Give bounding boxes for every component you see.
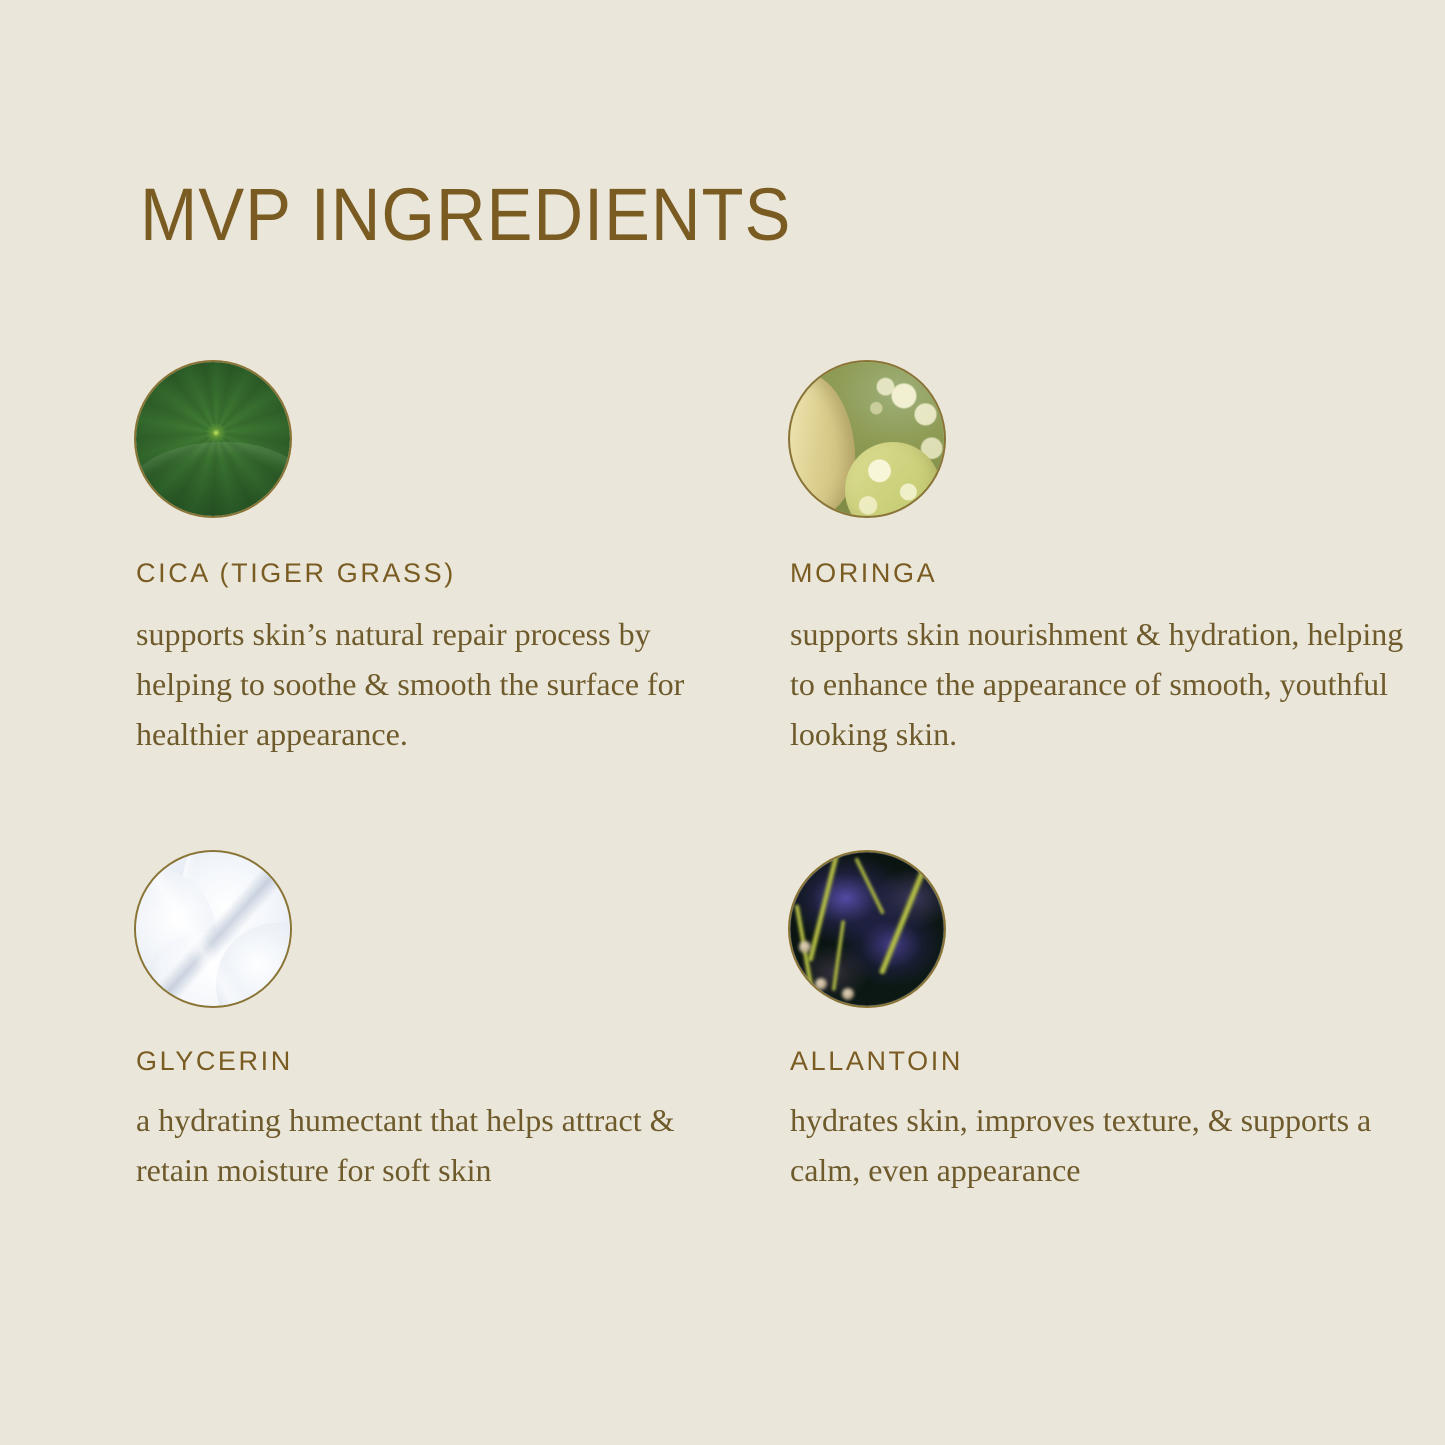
ingredient-description-glycerin: a hydrating humectant that helps attract… <box>136 1095 736 1195</box>
cica-leaf-image <box>136 362 290 516</box>
flower-bud <box>815 978 827 990</box>
ingredient-name-moringa: MORINGA <box>790 558 1410 589</box>
ingredient-card-glycerin: GLYCERIN a hydrating humectant that help… <box>136 852 790 1195</box>
ingredient-card-moringa: MORINGA supports skin nourishment & hydr… <box>790 362 1410 852</box>
ingredient-name-allantoin: ALLANTOIN <box>790 1046 1410 1077</box>
page-title: MVP INGREDIENTS <box>140 172 791 258</box>
moringa-pod-image <box>790 362 944 516</box>
plant-stem <box>854 857 885 915</box>
allantoin-flower-image <box>790 852 944 1006</box>
bubble-sheen-overlay <box>136 852 290 1006</box>
ingredient-description-allantoin: hydrates skin, improves texture, & suppo… <box>790 1095 1390 1195</box>
ingredients-grid: CICA (TIGER GRASS) supports skin’s natur… <box>136 362 1316 1195</box>
ingredient-description-moringa: supports skin nourishment & hydration, h… <box>790 609 1410 759</box>
leaf-veins-overlay <box>136 362 290 516</box>
ingredient-name-glycerin: GLYCERIN <box>136 1046 790 1077</box>
moringa-pod-bottom <box>845 442 940 516</box>
glycerin-bubble-image <box>136 852 290 1006</box>
plant-stem <box>878 852 938 975</box>
moringa-thumbnail <box>790 362 944 516</box>
flower-bud <box>842 988 854 1000</box>
ingredient-name-cica: CICA (TIGER GRASS) <box>136 558 790 589</box>
ingredient-description-cica: supports skin’s natural repair process b… <box>136 609 736 759</box>
ingredient-card-cica: CICA (TIGER GRASS) supports skin’s natur… <box>136 362 790 852</box>
cica-thumbnail <box>136 362 290 516</box>
ingredient-card-allantoin: ALLANTOIN hydrates skin, improves textur… <box>790 852 1410 1195</box>
glycerin-thumbnail <box>136 852 290 1006</box>
plant-stem <box>831 920 846 991</box>
ingredients-infographic: MVP INGREDIENTS CICA (TIGER GRASS) suppo… <box>0 0 1445 1445</box>
allantoin-thumbnail <box>790 852 944 1006</box>
